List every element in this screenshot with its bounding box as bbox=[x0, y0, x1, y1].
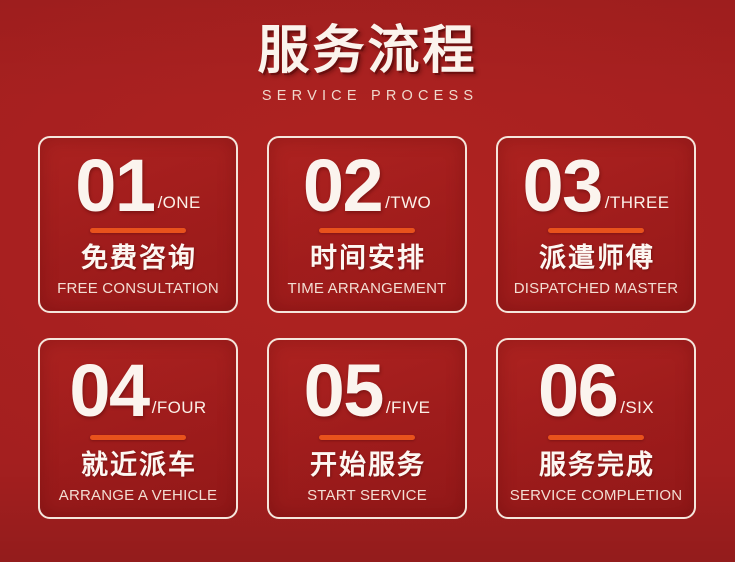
step-card-05: 05 /FIVE 开始服务 START SERVICE bbox=[267, 338, 467, 519]
step-card-02: 02 /TWO 时间安排 TIME ARRANGEMENT bbox=[267, 136, 467, 313]
step-label-en: DISPATCHED MASTER bbox=[514, 279, 679, 298]
accent-divider bbox=[90, 435, 186, 440]
step-number-word: /SIX bbox=[620, 399, 654, 416]
step-label-cn: 免费咨询 bbox=[79, 242, 197, 276]
page-title: 服务流程 bbox=[0, 22, 735, 80]
step-label-cn: 服务完成 bbox=[537, 449, 655, 483]
step-label-en: START SERVICE bbox=[307, 486, 427, 505]
step-number-word: /ONE bbox=[158, 194, 201, 211]
step-number-row: 03 /THREE bbox=[510, 148, 682, 224]
step-number: 02 bbox=[303, 148, 382, 224]
accent-divider bbox=[319, 435, 415, 440]
step-label-en: FREE CONSULTATION bbox=[57, 279, 219, 298]
poster-header: 服务流程 SERVICE PROCESS bbox=[0, 22, 735, 105]
step-label-cn: 就近派车 bbox=[79, 449, 197, 483]
step-card-01: 01 /ONE 免费咨询 FREE CONSULTATION bbox=[38, 136, 238, 313]
step-card-04: 04 /FOUR 就近派车 ARRANGE A VEHICLE bbox=[38, 338, 238, 519]
step-number: 05 bbox=[304, 353, 383, 429]
step-number-row: 06 /SIX bbox=[510, 353, 682, 429]
step-label-cn: 时间安排 bbox=[308, 242, 426, 276]
step-number-row: 01 /ONE bbox=[52, 148, 224, 224]
step-number: 06 bbox=[538, 353, 617, 429]
step-number-word: /TWO bbox=[385, 194, 431, 211]
step-number-row: 02 /TWO bbox=[281, 148, 453, 224]
step-number-word: /THREE bbox=[605, 194, 670, 211]
step-label-en: ARRANGE A VEHICLE bbox=[59, 486, 217, 505]
accent-divider bbox=[548, 435, 644, 440]
step-number-word: /FOUR bbox=[152, 399, 207, 416]
step-card-03: 03 /THREE 派遣师傅 DISPATCHED MASTER bbox=[496, 136, 696, 313]
step-label-cn: 开始服务 bbox=[308, 449, 426, 483]
step-label-en: SERVICE COMPLETION bbox=[510, 486, 683, 505]
accent-divider bbox=[90, 228, 186, 233]
step-label-en: TIME ARRANGEMENT bbox=[287, 279, 446, 298]
step-number: 01 bbox=[75, 148, 154, 224]
step-number-row: 04 /FOUR bbox=[52, 353, 224, 429]
service-process-poster: 服务流程 SERVICE PROCESS 01 /ONE 免费咨询 FREE C… bbox=[0, 0, 735, 562]
step-number-word: /FIVE bbox=[386, 399, 431, 416]
step-number: 03 bbox=[522, 148, 601, 224]
step-label-cn: 派遣师傅 bbox=[537, 242, 655, 276]
accent-divider bbox=[548, 228, 644, 233]
step-number-row: 05 /FIVE bbox=[281, 353, 453, 429]
accent-divider bbox=[319, 228, 415, 233]
step-card-06: 06 /SIX 服务完成 SERVICE COMPLETION bbox=[496, 338, 696, 519]
page-subtitle: SERVICE PROCESS bbox=[0, 87, 735, 105]
step-number: 04 bbox=[69, 353, 148, 429]
steps-grid: 01 /ONE 免费咨询 FREE CONSULTATION 02 /TWO 时… bbox=[38, 136, 697, 519]
